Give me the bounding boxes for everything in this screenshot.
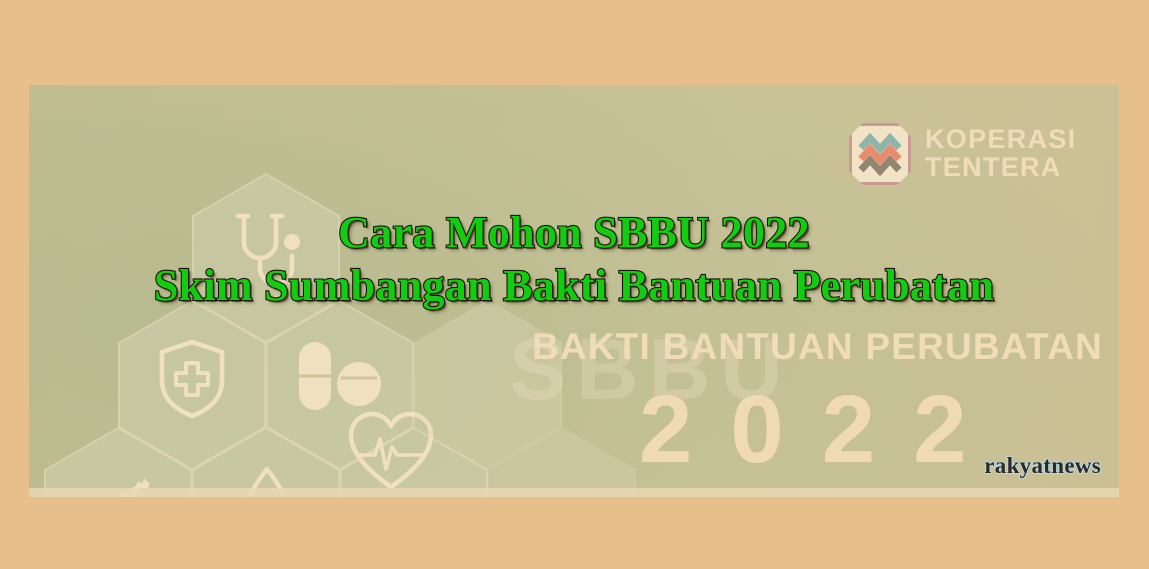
page-root: SBBU BAKTI BANTUAN PERUBATAN 2022 KOPERA… (0, 0, 1149, 569)
logo-line-2: TENTERA (925, 154, 1076, 182)
headline-line-2: Skim Sumbangan Bakti Bantuan Perubatan (29, 263, 1119, 310)
headline-line-1: Cara Mohon SBBU 2022 (29, 210, 1119, 257)
banner-year-text: 2022 (639, 375, 1005, 485)
promo-banner: SBBU BAKTI BANTUAN PERUBATAN 2022 KOPERA… (29, 85, 1119, 497)
site-watermark: rakyatnews (984, 453, 1101, 479)
banner-subtitle-text: BAKTI BANTUAN PERUBATAN (532, 326, 1103, 368)
banner-bottom-strip (29, 488, 1119, 497)
banner-headline: Cara Mohon SBBU 2022 Skim Sumbangan Bakt… (29, 210, 1119, 309)
koperasi-tentera-chevron-mark (849, 123, 911, 185)
logo-line-1: KOPERASI (925, 126, 1076, 154)
logo-wordmark: KOPERASI TENTERA (925, 126, 1076, 181)
koperasi-tentera-logo: KOPERASI TENTERA (849, 123, 1076, 185)
